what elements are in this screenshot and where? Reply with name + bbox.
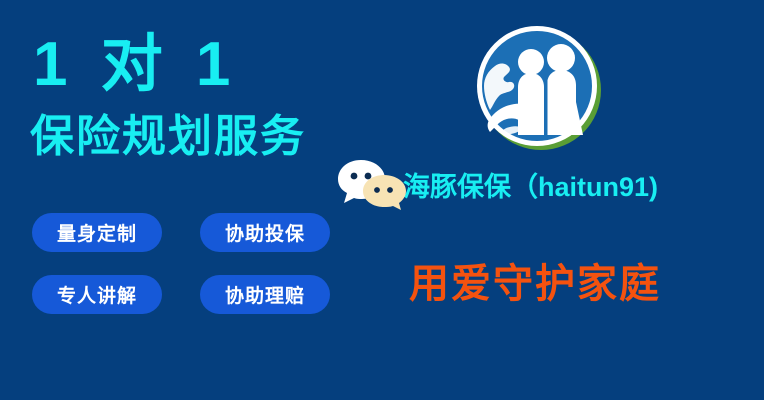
feature-pill-label: 量身定制: [57, 219, 137, 246]
feature-pill-apply[interactable]: 协助投保: [200, 213, 330, 252]
wechat-contact-row[interactable]: 海豚保保（haitun91): [337, 158, 658, 210]
feature-pill-label: 专人讲解: [57, 281, 137, 308]
feature-pill-custom[interactable]: 量身定制: [32, 213, 162, 252]
slogan-text: 用爱守护家庭: [409, 251, 661, 309]
page-title: 1 对 1: [33, 31, 238, 99]
page-subtitle: 保险规划服务: [30, 112, 306, 162]
wechat-icon: [337, 158, 407, 210]
dolphin-family-globe-icon: [473, 22, 605, 154]
feature-pill-claims[interactable]: 协助理赔: [200, 275, 330, 314]
feature-pill-label: 协助投保: [225, 219, 305, 246]
feature-pill-label: 协助理赔: [225, 281, 305, 308]
promo-poster: 1 对 1 保险规划服务 量身定制 协助投保 专人讲解 协助理赔: [0, 0, 764, 400]
feature-pill-expert[interactable]: 专人讲解: [32, 275, 162, 314]
feature-pill-group: 量身定制 协助投保 专人讲解 协助理赔: [32, 213, 332, 314]
brand-logo: [473, 22, 605, 154]
wechat-id-text: 海豚保保（haitun91): [403, 165, 658, 204]
